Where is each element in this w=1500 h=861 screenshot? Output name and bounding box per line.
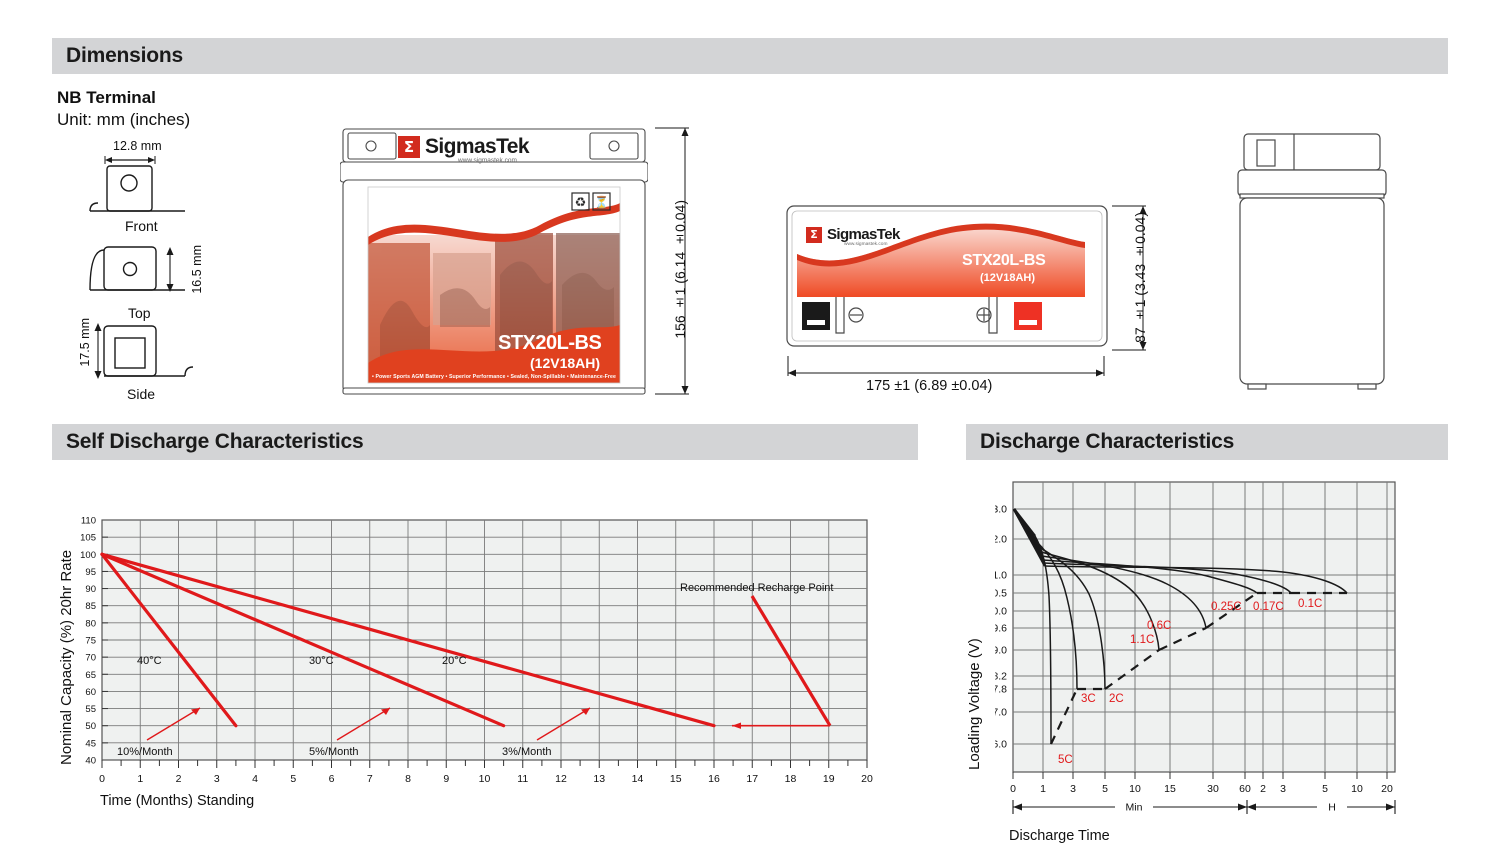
brand-url-side: www.sigmastek.com (844, 242, 887, 247)
svg-text:60: 60 (1239, 783, 1251, 795)
brand-name-front: SigmasTek (425, 135, 529, 159)
label-0-1c: 0.1C (1298, 598, 1322, 610)
label-1-1c: 1.1C (1130, 634, 1154, 646)
svg-text:55: 55 (85, 704, 96, 715)
svg-text:6.0: 6.0 (995, 739, 1007, 751)
brand-name-side: SigmasTek (827, 226, 900, 243)
label-0-17c: 0.17C (1253, 601, 1284, 613)
capacity-front: (12V18AH) (530, 355, 600, 371)
terminal-width-label: 12.8 mm (113, 139, 162, 153)
svg-text:105: 105 (80, 533, 96, 544)
unit-label: Unit: mm (inches) (57, 110, 190, 130)
model-name-side: STX20L-BS (962, 252, 1046, 270)
x-unit-hour: H (1328, 802, 1336, 814)
svg-text:12: 12 (555, 773, 567, 785)
battery-length-dimension: 175 ±1 (6.89 ±0.04) (866, 378, 992, 394)
svg-text:3: 3 (214, 773, 220, 785)
label-0-6c: 0.6C (1147, 620, 1171, 632)
svg-text:50: 50 (85, 721, 96, 732)
svg-text:♻: ♻ (575, 196, 587, 211)
svg-text:3: 3 (1070, 783, 1076, 795)
label-0-25c: 0.25C (1211, 601, 1242, 613)
svg-text:20: 20 (861, 773, 873, 785)
battery-depth-dimension: 87 ±1 (3.43 ±0.04) (1132, 212, 1148, 343)
svg-text:15: 15 (1164, 783, 1176, 795)
anno-20c: 20°C (442, 655, 467, 667)
svg-text:80: 80 (85, 618, 96, 629)
svg-text:20: 20 (1381, 783, 1393, 795)
svg-text:75: 75 (85, 636, 96, 647)
section-title-dimensions: Dimensions (52, 44, 183, 68)
svg-text:4: 4 (252, 773, 258, 785)
terminal-view-front: Front (125, 218, 158, 234)
terminal-height-label: 16.5 mm (190, 245, 204, 294)
svg-text:10: 10 (479, 773, 491, 785)
svg-text:10.0: 10.0 (995, 606, 1007, 618)
svg-text:70: 70 (85, 653, 96, 664)
spec-sheet-page: Dimensions NB Terminal Unit: mm (inches) (0, 0, 1500, 861)
battery-side-view: Σ SigmasTek www.sigmastek.com STX20L-BS … (784, 202, 1110, 352)
svg-text:18: 18 (785, 773, 797, 785)
svg-text:15: 15 (670, 773, 682, 785)
anno-recharge-point: Recommended Recharge Point (680, 582, 833, 594)
svg-text:110: 110 (81, 516, 96, 527)
svg-text:19: 19 (823, 773, 835, 785)
svg-text:1: 1 (137, 773, 143, 785)
svg-text:13.0: 13.0 (995, 504, 1007, 516)
terminal-diagrams (60, 132, 300, 412)
discharge-chart: 13.0 12.0 11.0 10.5 10.0 9.6 9.0 8.2 7.8… (995, 476, 1415, 836)
sigma-logo-icon-side: Σ (806, 227, 822, 243)
label-5c: 5C (1058, 754, 1073, 766)
svg-text:5: 5 (1102, 783, 1108, 795)
section-title-discharge: Discharge Characteristics (966, 430, 1234, 454)
x-unit-min: Min (1126, 802, 1143, 814)
svg-text:8.2: 8.2 (995, 671, 1007, 683)
svg-text:7.8: 7.8 (995, 684, 1007, 696)
svg-text:11.0: 11.0 (995, 570, 1007, 582)
svg-text:3: 3 (1280, 783, 1286, 795)
brand-url-front: www.sigmastek.com (458, 157, 517, 164)
brand-lockup-side: Σ SigmasTek (806, 226, 900, 243)
svg-text:16: 16 (708, 773, 720, 785)
svg-text:100: 100 (80, 550, 96, 561)
tagline-front: • Power Sports AGM Battery • Superior Pe… (372, 374, 616, 380)
svg-text:60: 60 (85, 687, 96, 698)
nb-terminal-heading: NB Terminal (57, 88, 156, 108)
svg-text:30: 30 (1207, 783, 1219, 795)
discharge-x-axis-title: Discharge Time (1009, 828, 1110, 844)
label-3c: 3C (1081, 693, 1096, 705)
svg-text:40: 40 (85, 756, 96, 767)
svg-text:6: 6 (329, 773, 335, 785)
model-name-front: STX20L-BS (498, 332, 601, 355)
battery-end-view (1232, 128, 1392, 398)
svg-text:10: 10 (1351, 783, 1363, 795)
svg-text:⏳: ⏳ (594, 196, 609, 210)
anno-10pct: 10%/Month (117, 746, 173, 758)
label-2c: 2C (1109, 693, 1124, 705)
svg-text:10.5: 10.5 (995, 588, 1007, 600)
capacity-side: (12V18AH) (980, 272, 1035, 284)
anno-3pct: 3%/Month (502, 746, 552, 758)
section-header-discharge: Discharge Characteristics (966, 424, 1448, 460)
svg-text:10: 10 (1129, 783, 1141, 795)
svg-text:65: 65 (85, 670, 96, 681)
svg-text:5: 5 (1322, 783, 1328, 795)
sigma-logo-icon: Σ (398, 136, 420, 158)
svg-text:8: 8 (405, 773, 411, 785)
svg-text:85: 85 (85, 601, 96, 612)
section-title-self-discharge: Self Discharge Characteristics (52, 430, 363, 454)
anno-30c: 30°C (309, 655, 334, 667)
svg-text:0: 0 (99, 773, 105, 785)
self-discharge-chart: 110 105 100 95 90 85 80 75 70 65 60 55 5… (72, 512, 882, 792)
section-header-dimensions: Dimensions (52, 38, 1448, 74)
svg-text:1: 1 (1040, 783, 1046, 795)
svg-text:2: 2 (176, 773, 182, 785)
terminal-view-side: Side (127, 386, 155, 402)
svg-text:7: 7 (367, 773, 373, 785)
svg-text:90: 90 (85, 584, 96, 595)
length-dimension-line (784, 356, 1110, 380)
svg-text:45: 45 (85, 738, 96, 749)
svg-text:9: 9 (443, 773, 449, 785)
battery-front-view: ♻ ⏳ Σ SigmasTek www.sigmastek.com STX20L… (340, 125, 648, 397)
section-header-self-discharge: Self Discharge Characteristics (52, 424, 918, 460)
terminal-depth-label: 17.5 mm (78, 318, 92, 367)
anno-5pct: 5%/Month (309, 746, 359, 758)
svg-text:14: 14 (632, 773, 644, 785)
svg-text:12.0: 12.0 (995, 534, 1007, 546)
anno-40c: 40°C (137, 655, 162, 667)
svg-text:0: 0 (1010, 783, 1016, 795)
svg-text:11: 11 (517, 773, 528, 785)
svg-text:2: 2 (1260, 783, 1266, 795)
brand-lockup-front: Σ SigmasTek (398, 135, 529, 159)
terminal-view-top: Top (128, 305, 151, 321)
battery-height-dimension: 156 ±1 (6.14 ±0.04) (672, 200, 688, 339)
svg-text:13: 13 (593, 773, 605, 785)
svg-text:17: 17 (746, 773, 758, 785)
svg-text:9.6: 9.6 (995, 623, 1007, 635)
no-trash-icon: ⏳ (593, 193, 610, 210)
svg-text:9.0: 9.0 (995, 645, 1007, 657)
svg-text:7.0: 7.0 (995, 707, 1007, 719)
svg-text:5: 5 (290, 773, 296, 785)
svg-text:95: 95 (85, 567, 96, 578)
discharge-y-axis-title: Loading Voltage (V) (966, 560, 983, 770)
self-discharge-x-axis-title: Time (Months) Standing (100, 793, 254, 809)
